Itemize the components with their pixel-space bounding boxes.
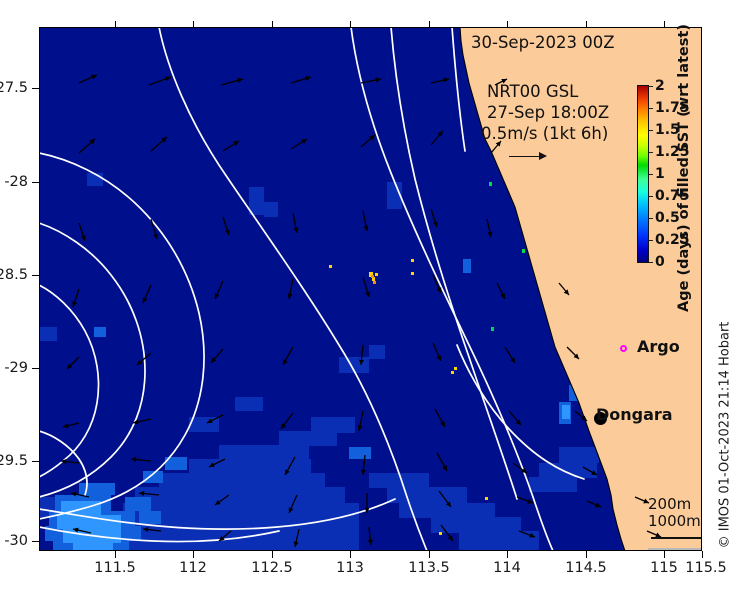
x-tick-top: [664, 21, 665, 28]
x-tick-label: 111.5: [94, 560, 136, 576]
x-tick: [115, 551, 116, 558]
x-tick-label: 114: [493, 560, 521, 576]
y-tick: [32, 368, 39, 369]
depth-contour-legend: 200m 1000m: [648, 496, 702, 530]
x-tick-top: [115, 21, 116, 28]
x-tick-top: [272, 21, 273, 28]
colorbar-tick: [649, 262, 653, 263]
y-tick-label: -29.5: [0, 453, 28, 469]
y-tick-label: -27.5: [0, 80, 28, 96]
reference-arrow-shaft: [509, 156, 543, 157]
y-axis: -27.5 -28 -28.5 -29 -29.5 -30: [0, 0, 36, 592]
colorbar-tick: [649, 130, 653, 131]
colorbar-tick-label: 2: [655, 78, 665, 94]
colorbar-tick-label: 0: [655, 254, 665, 270]
dongara-legend-label: Dongara: [596, 405, 673, 424]
velocity-scale-label: 0.5m/s (1kt 6h): [481, 124, 608, 143]
x-tick-top: [586, 21, 587, 28]
reference-arrow: [509, 152, 549, 162]
x-tick-label: 113.5: [408, 560, 450, 576]
y-tick: [32, 88, 39, 89]
x-tick-top: [193, 21, 194, 28]
x-tick-top: [507, 21, 508, 28]
colorbar-tick-label: 1: [655, 166, 665, 182]
colorbar-tick: [649, 196, 653, 197]
y-tick-label: -28: [4, 174, 28, 190]
colorbar-tick: [649, 108, 653, 109]
x-tick: [702, 551, 703, 558]
colorbar-tick: [649, 218, 653, 219]
colorbar-tick: [649, 152, 653, 153]
colorbar-tick: [649, 174, 653, 175]
x-tick-label: 114.5: [565, 560, 607, 576]
map-plot-area[interactable]: 30-Sep-2023 00Z NRT00 GSL 27-Sep 18:00Z …: [39, 27, 702, 551]
x-tick: [429, 551, 430, 558]
x-tick-label: 112: [179, 560, 207, 576]
depth-contour-sample-line-2: [648, 548, 702, 550]
colorbar-title-text: Age (days) of filled SST (wrt latest): [676, 24, 692, 312]
x-tick: [664, 551, 665, 558]
x-tick-label: 112.5: [251, 560, 293, 576]
timestamp-label: 30-Sep-2023 00Z: [471, 33, 615, 52]
x-tick: [507, 551, 508, 558]
colorbar-title: Age (days) of filled SST (wrt latest): [672, 28, 696, 308]
depth-contour-1000m-label: 1000m: [648, 513, 702, 530]
y-tick-label: -30: [4, 533, 28, 549]
source-time-label: 27-Sep 18:00Z: [487, 103, 609, 122]
x-tick: [272, 551, 273, 558]
y-tick: [32, 461, 39, 462]
colorbar-gradient[interactable]: [637, 85, 649, 263]
depth-contour-200m-label: 200m: [648, 496, 702, 513]
depth-contour-sample-line-1: [651, 537, 702, 539]
y-tick-label: -28.5: [0, 267, 28, 283]
y-tick: [32, 275, 39, 276]
x-tick-top: [350, 21, 351, 28]
x-tick-label: 113: [336, 560, 364, 576]
x-tick: [586, 551, 587, 558]
argo-legend-label: Argo: [637, 337, 680, 356]
x-tick: [193, 551, 194, 558]
source-model-label: NRT00 GSL: [487, 82, 578, 101]
colorbar-tick: [649, 240, 653, 241]
x-tick: [350, 551, 351, 558]
y-tick-label: -29: [4, 360, 28, 376]
x-tick-label: 115: [650, 560, 678, 576]
y-tick: [32, 182, 39, 183]
reference-arrow-head: [539, 152, 547, 160]
copyright-text: © IMOS 01-Oct-2023 21:14 Hobart: [718, 322, 733, 549]
y-tick: [32, 541, 39, 542]
x-tick-top: [429, 21, 430, 28]
colorbar-tick: [649, 86, 653, 87]
copyright-credit: © IMOS 01-Oct-2023 21:14 Hobart: [714, 300, 736, 570]
argo-marker-icon[interactable]: [620, 345, 627, 352]
